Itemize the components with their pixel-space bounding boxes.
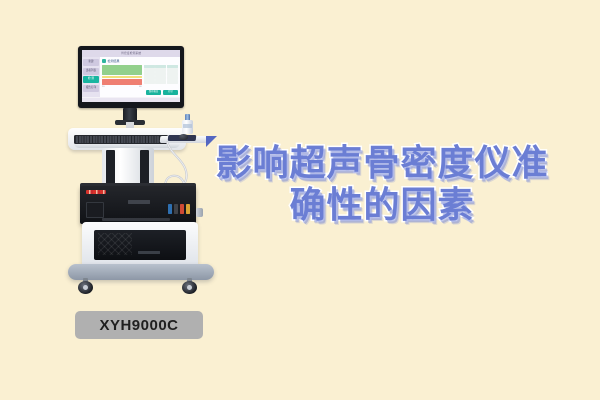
model-badge-label: XYH9000C <box>99 317 178 334</box>
software-main-panel: 检测结果 20 80 <box>100 57 180 97</box>
table-cell <box>167 80 178 83</box>
sidebar-item-measure[interactable]: 检 测 <box>83 76 99 83</box>
table-cell <box>144 72 155 75</box>
density-band-chart: 20 80 <box>102 65 142 89</box>
table-header-cell <box>167 65 178 68</box>
table-cell <box>144 80 155 83</box>
software-sidebar: 新建 患者列表 检 测 报告打印 <box>82 57 100 97</box>
axis-tick-right: 80 <box>139 86 141 89</box>
cabinet-front-panel <box>94 230 186 260</box>
lcd-monitor: 骨密度检测系统 新建 患者列表 检 测 报告打印 检测结果 <box>78 46 184 108</box>
software-body: 新建 患者列表 检 测 报告打印 检测结果 <box>82 57 180 97</box>
cabinet-side-knob <box>196 208 203 217</box>
table-cell <box>155 76 166 79</box>
band-osteopenia <box>102 76 142 79</box>
monitor-screen: 骨密度检测系统 新建 患者列表 检 测 报告打印 检测结果 <box>82 50 180 102</box>
table-cell <box>155 80 166 83</box>
sidebar-item-new[interactable]: 新建 <box>83 59 99 66</box>
ink-tank <box>174 204 178 214</box>
sidebar-item-patient-list[interactable]: 患者列表 <box>83 68 99 75</box>
print-button[interactable]: 打印 <box>163 90 178 95</box>
software-statusbar <box>82 98 180 102</box>
table-cell <box>155 72 166 75</box>
bottle-label <box>183 124 192 128</box>
inkjet-printer <box>80 186 196 224</box>
axis-tick-left: 20 <box>102 86 104 89</box>
model-badge: XYH9000C <box>75 311 203 339</box>
keyboard <box>74 135 168 144</box>
headline-line-1: 影响超声骨密度仪准 <box>212 143 552 185</box>
table-cell <box>167 76 178 79</box>
caster-wheel <box>182 278 197 294</box>
printer-brand-mark <box>128 200 150 204</box>
sidebar-item-report-print[interactable]: 报告打印 <box>83 85 99 92</box>
table-cell <box>167 72 178 75</box>
product-image: 骨密度检测系统 新建 患者列表 检 测 报告打印 检测结果 <box>60 36 230 296</box>
table-cell <box>167 68 178 71</box>
software-footer-buttons: 保存报告 打印 <box>102 90 178 95</box>
result-section-header: 检测结果 <box>102 59 178 63</box>
printer-output-tray <box>102 218 170 221</box>
printer-left-panel <box>86 202 104 218</box>
table-row <box>144 68 178 71</box>
caster-hub <box>187 285 192 290</box>
result-content: 20 80 <box>102 65 178 89</box>
caster-wheel <box>78 278 93 294</box>
band-normal <box>102 65 142 75</box>
headline: 影响超声骨密度仪准 确性的因素 <box>212 143 552 227</box>
coupling-gel-bottle <box>182 114 193 134</box>
table-row <box>144 76 178 79</box>
caster-hub <box>83 285 88 290</box>
table-header-cell <box>144 65 155 68</box>
table-row <box>144 72 178 75</box>
ink-tank <box>168 204 172 214</box>
table-header-row <box>144 65 178 68</box>
table-cell <box>155 68 166 71</box>
cabinet-label <box>138 251 160 254</box>
table-row <box>144 80 178 83</box>
printer-indicator-strip <box>86 190 106 194</box>
keyboard-row <box>76 142 166 143</box>
banner-canvas: 骨密度检测系统 新建 患者列表 检 测 报告打印 检测结果 <box>0 0 600 400</box>
vent-grille <box>98 233 132 255</box>
section-badge-icon <box>102 59 106 63</box>
chart-axis: 20 80 <box>102 86 142 89</box>
table-cell <box>144 68 155 71</box>
headline-line-2: 确性的因素 <box>212 185 552 227</box>
software-titlebar: 骨密度检测系统 <box>82 50 180 57</box>
save-report-button[interactable]: 保存报告 <box>146 90 161 95</box>
table-cell <box>144 76 155 79</box>
ink-tank <box>180 204 184 214</box>
ink-tank <box>186 204 190 214</box>
band-osteoporosis <box>102 79 142 84</box>
table-header-cell <box>155 65 166 68</box>
software-title: 骨密度检测系统 <box>121 52 141 55</box>
measurement-table <box>144 65 178 89</box>
section-header-label: 检测结果 <box>108 60 120 63</box>
